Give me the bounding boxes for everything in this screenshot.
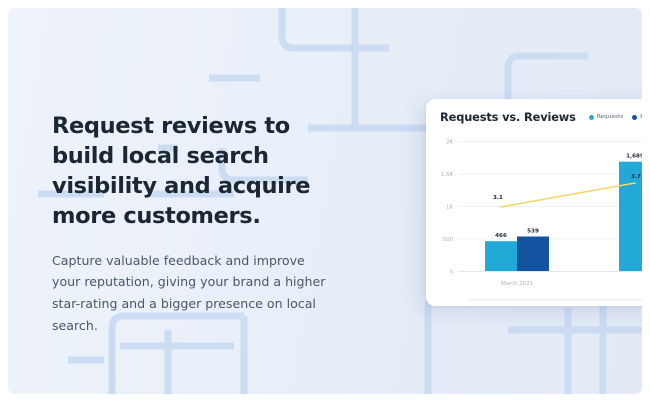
hero-copy: Request reviews to build local search vi…	[52, 112, 327, 336]
hero-description: Capture valuable feedback and improve yo…	[52, 232, 327, 337]
legend-label-requests: Requests	[597, 114, 623, 120]
legend-dot-reviews	[632, 115, 637, 120]
y-tick-0: 0	[450, 270, 454, 276]
y-tick-2k: 2K	[446, 140, 453, 146]
bar-group-march: 466 539	[485, 229, 549, 272]
legend-dot-requests	[589, 115, 594, 120]
hero-panel: Request reviews to build local search vi…	[8, 8, 642, 394]
chart-card-header: Requests vs. Reviews Requests Reviews Av…	[440, 110, 642, 124]
legend-label-reviews: Reviews	[640, 114, 642, 120]
avg-rating-label-april: 3.7	[631, 174, 641, 180]
chart-plot-area: 2K 1.5K 1K 500 0 466 539	[426, 133, 642, 306]
x-tick-march: March 2021	[501, 281, 533, 287]
chart-title: Requests vs. Reviews	[440, 110, 576, 124]
bar-label-requests-march: 466	[495, 233, 507, 239]
bar-label-requests-april: 1,689	[626, 154, 642, 160]
legend-item-reviews: Reviews	[632, 114, 642, 120]
avg-rating-label-march: 3.1	[493, 195, 503, 201]
bar-reviews-march	[517, 237, 549, 272]
chart-card: Requests vs. Reviews Requests Reviews Av…	[426, 99, 642, 306]
bar-requests-march	[485, 241, 517, 271]
page-title: Request reviews to build local search vi…	[52, 112, 327, 232]
chart-x-axis-labels: March 2021 April	[501, 281, 642, 287]
y-tick-500: 500	[443, 237, 454, 243]
avg-rating-line: 3.1 3.7	[493, 174, 641, 207]
hero-section: Request reviews to build local search vi…	[0, 0, 650, 411]
bar-group-april: 1,689 727	[619, 154, 642, 272]
legend-item-requests: Requests	[589, 114, 623, 120]
y-tick-1k: 1K	[446, 205, 453, 211]
chart-y-axis-labels: 2K 1.5K 1K 500 0	[441, 140, 454, 276]
y-tick-1-5k: 1.5K	[441, 172, 454, 178]
bar-label-reviews-march: 539	[527, 229, 539, 235]
chart-legend: Requests Reviews Avg.	[589, 114, 642, 120]
